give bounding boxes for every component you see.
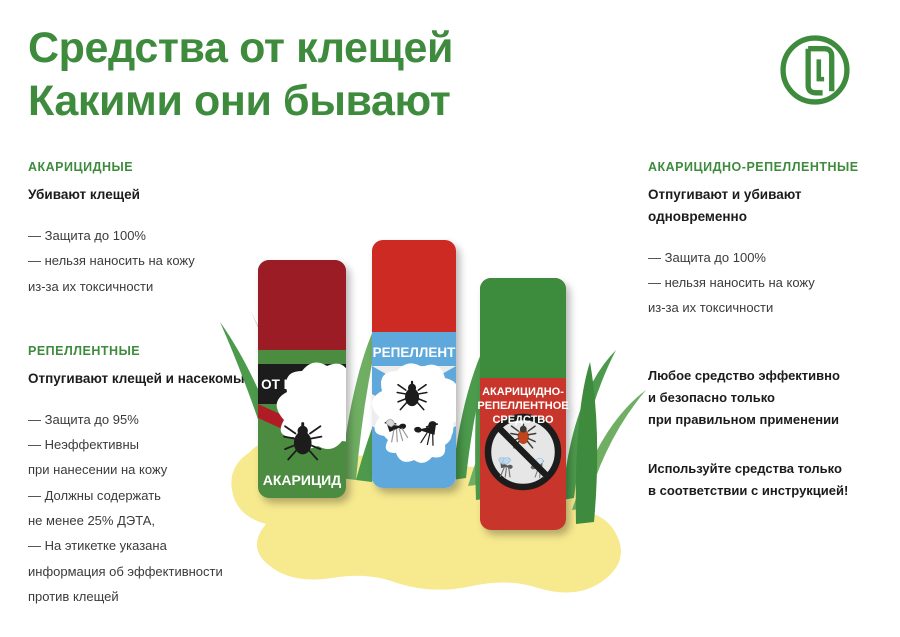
infographic-page: Средства от клещей Какими они бывают АКА… (0, 0, 900, 637)
category-block-acaricide-repellent: АКАРИЦИДНО-РЕПЕЛЛЕНТНЫЕ Отпугивают и уби… (648, 160, 878, 321)
page-title: Средства от клещей Какими они бывают (28, 22, 588, 128)
category-subtitle: Отпугивают и убивают одновременно (648, 184, 878, 228)
advice-note-2: Используйте средства только в соответств… (648, 458, 878, 503)
category-subtitle-line: Отпугивают и убивают (648, 184, 878, 206)
bottle-band-label: РЕПЕЛЛЕНТ (373, 345, 456, 360)
category-subtitle-line: одновременно (648, 206, 878, 228)
bullet-item: — нельзя наносить на кожу (648, 270, 878, 295)
title-line-1: Средства от клещей (28, 22, 588, 75)
bottle-bottom-label: АКАРИЦИД (263, 472, 341, 488)
advice-note-1: Любое средство эффективно и безопасно то… (648, 365, 878, 432)
category-bullets: — Защита до 100% — нельзя наносить на ко… (648, 245, 878, 321)
acaricide-repellent-bottle: АКАРИЦИДНО- РЕПЕЛЛЕНТНОЕ СРЕДСТВО (477, 278, 568, 530)
bullet-item: из-за их токсичности (648, 295, 878, 320)
rospotrebnadzor-logo (777, 32, 853, 108)
category-heading: АКАРИЦИДНО-РЕПЕЛЛЕНТНЫЕ (648, 160, 878, 175)
no-insects-prohibition-icon (488, 417, 558, 487)
bottle-label-line-1: АКАРИЦИДНО- (482, 386, 564, 398)
bottles-illustration: ОТ КЛЕЩЕЙ АКАРИЦИД (190, 180, 670, 600)
advice-note-line: Любое средство эффективно (648, 365, 878, 387)
advice-note-line: и безопасно только (648, 387, 878, 409)
bottle-label-line-2: РЕПЕЛЛЕНТНОЕ (477, 400, 568, 412)
advice-note-line: в соответствии с инструкцией! (648, 480, 878, 502)
category-heading: АКАРИЦИДНЫЕ (28, 160, 258, 175)
repellent-bottle: РЕПЕЛЛЕНТ (372, 240, 462, 488)
advice-note-line: Используйте средства только (648, 458, 878, 480)
bottle-band-label: ОТ КЛЕЩЕЙ (261, 377, 343, 392)
bottle-label-line-3: СРЕДСТВО (492, 414, 554, 426)
right-text-column: АКАРИЦИДНО-РЕПЕЛЛЕНТНЫЕ Отпугивают и уби… (648, 160, 878, 503)
bullet-item: — Защита до 100% (648, 245, 878, 270)
advice-note-line: при правильном применении (648, 409, 878, 431)
title-line-2: Какими они бывают (28, 75, 588, 128)
